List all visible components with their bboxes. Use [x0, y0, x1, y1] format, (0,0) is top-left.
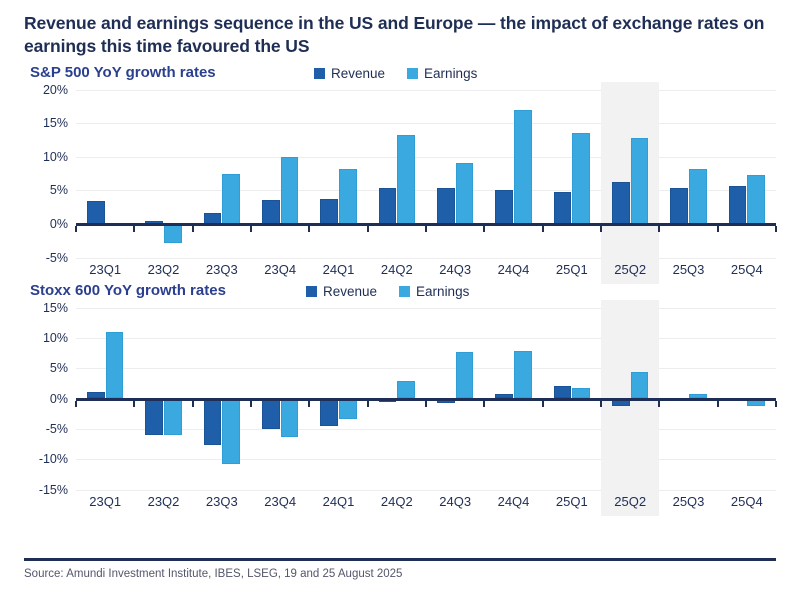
- bar-earnings-23Q4: [281, 399, 299, 438]
- axis-tick: [367, 226, 369, 232]
- axis-tick: [775, 401, 777, 407]
- x-tick-label-25Q2: 25Q2: [614, 262, 646, 277]
- gridline: [76, 90, 776, 91]
- legend-swatch-revenue-icon: [314, 68, 325, 79]
- bar-revenue-23Q2: [145, 399, 163, 435]
- y-tick-label: 10%: [43, 331, 68, 345]
- y-tick-label: 5%: [50, 183, 68, 197]
- legend-label-earnings: Earnings: [424, 66, 477, 81]
- x-tick-label-23Q3: 23Q3: [206, 262, 238, 277]
- axis-tick: [75, 401, 77, 407]
- axis-tick: [658, 226, 660, 232]
- chart2-y-axis: 15%10%5%0%-5%-10%-15%: [24, 308, 72, 490]
- chart2-x-axis: 23Q123Q223Q323Q424Q124Q224Q324Q425Q125Q2…: [76, 490, 776, 514]
- x-tick-label-25Q2: 25Q2: [614, 494, 646, 509]
- bar-earnings-24Q3: [456, 352, 474, 399]
- x-tick-label-24Q3: 24Q3: [439, 494, 471, 509]
- legend-label-earnings: Earnings: [416, 284, 469, 299]
- axis-tick: [483, 226, 485, 232]
- bar-earnings-23Q4: [281, 157, 299, 224]
- y-tick-label: 15%: [43, 301, 68, 315]
- bar-revenue-25Q4: [729, 186, 747, 224]
- axis-tick: [542, 226, 544, 232]
- legend-item-earnings: Earnings: [399, 284, 469, 299]
- axis-tick: [425, 401, 427, 407]
- x-tick-label-24Q3: 24Q3: [439, 262, 471, 277]
- y-tick-label: 0%: [50, 392, 68, 406]
- chart2-title: Stoxx 600 YoY growth rates: [30, 282, 226, 299]
- chart2-plot-area: 15%10%5%0%-5%-10%-15%: [24, 308, 782, 490]
- bar-revenue-25Q3: [670, 188, 688, 224]
- legend-swatch-revenue-icon: [306, 286, 317, 297]
- bar-earnings-23Q2: [164, 224, 182, 243]
- source-note: Source: Amundi Investment Institute, IBE…: [24, 568, 782, 580]
- gridline: [76, 308, 776, 309]
- axis-tick: [600, 401, 602, 407]
- bar-earnings-25Q2: [631, 138, 649, 224]
- bar-earnings-24Q1: [339, 399, 357, 420]
- legend-swatch-earnings-icon: [399, 286, 410, 297]
- y-tick-label: -10%: [39, 452, 68, 466]
- chart-panel-sp500: S&P 500 YoY growth rates Revenue Earning…: [24, 64, 782, 282]
- chart1-y-axis: 20%15%10%5%0%-5%: [24, 90, 72, 258]
- bar-earnings-23Q3: [222, 174, 240, 224]
- legend-item-earnings: Earnings: [407, 66, 477, 81]
- x-tick-label-23Q4: 23Q4: [264, 262, 296, 277]
- chart1-plot-area: 20%15%10%5%0%-5%: [24, 90, 782, 258]
- x-tick-label-23Q3: 23Q3: [206, 494, 238, 509]
- bar-earnings-25Q2: [631, 372, 649, 399]
- bar-earnings-24Q3: [456, 163, 474, 224]
- bar-revenue-25Q1: [554, 192, 572, 224]
- bar-earnings-24Q2: [397, 381, 415, 399]
- x-tick-label-23Q2: 23Q2: [148, 262, 180, 277]
- footer: Source: Amundi Investment Institute, IBE…: [18, 558, 782, 580]
- x-tick-label-24Q4: 24Q4: [498, 262, 530, 277]
- highlight-band-25Q2: [601, 300, 659, 516]
- chart2-legend: Revenue Earnings: [306, 284, 469, 299]
- axis-tick: [600, 226, 602, 232]
- gridline: [76, 368, 776, 369]
- legend-swatch-earnings-icon: [407, 68, 418, 79]
- axis-tick: [483, 401, 485, 407]
- bar-revenue-23Q3: [204, 399, 222, 445]
- x-tick-label-24Q2: 24Q2: [381, 262, 413, 277]
- x-tick-label-23Q1: 23Q1: [89, 262, 121, 277]
- legend-item-revenue: Revenue: [314, 66, 385, 81]
- x-tick-label-25Q3: 25Q3: [673, 262, 705, 277]
- x-tick-label-25Q3: 25Q3: [673, 494, 705, 509]
- x-tick-label-25Q1: 25Q1: [556, 262, 588, 277]
- x-tick-label-24Q4: 24Q4: [498, 494, 530, 509]
- bar-revenue-24Q4: [495, 190, 513, 224]
- bar-earnings-25Q4: [747, 175, 765, 224]
- axis-tick: [308, 401, 310, 407]
- x-tick-label-23Q2: 23Q2: [148, 494, 180, 509]
- chart2-header: Stoxx 600 YoY growth rates Revenue Earni…: [24, 282, 782, 308]
- gridline: [76, 123, 776, 124]
- y-tick-label: -5%: [46, 422, 68, 436]
- y-tick-label: -5%: [46, 251, 68, 265]
- bar-earnings-25Q1: [572, 133, 590, 224]
- legend-label-revenue: Revenue: [331, 66, 385, 81]
- bar-revenue-23Q1: [87, 201, 105, 224]
- chart1-bars: [76, 90, 776, 258]
- axis-tick: [250, 401, 252, 407]
- legend-item-revenue: Revenue: [306, 284, 377, 299]
- axis-tick: [250, 226, 252, 232]
- x-tick-label-24Q2: 24Q2: [381, 494, 413, 509]
- axis-tick: [717, 226, 719, 232]
- bar-earnings-24Q4: [514, 351, 532, 399]
- bar-earnings-23Q2: [164, 399, 182, 435]
- bar-earnings-25Q3: [689, 169, 707, 224]
- chart1-title: S&P 500 YoY growth rates: [30, 64, 216, 81]
- x-tick-label-23Q4: 23Q4: [264, 494, 296, 509]
- x-tick-label-25Q4: 25Q4: [731, 262, 763, 277]
- legend-label-revenue: Revenue: [323, 284, 377, 299]
- gridline: [76, 338, 776, 339]
- axis-tick: [717, 401, 719, 407]
- bar-revenue-23Q4: [262, 200, 280, 224]
- bar-earnings-24Q2: [397, 135, 415, 224]
- bar-revenue-25Q2: [612, 182, 630, 224]
- y-tick-label: 20%: [43, 83, 68, 97]
- axis-tick: [775, 226, 777, 232]
- axis-tick: [542, 401, 544, 407]
- gridline: [76, 157, 776, 158]
- chart-page: Revenue and earnings sequence in the US …: [0, 0, 800, 590]
- footer-divider: [24, 558, 776, 561]
- axis-tick: [192, 401, 194, 407]
- bar-revenue-24Q1: [320, 399, 338, 427]
- y-tick-label: 5%: [50, 361, 68, 375]
- bar-revenue-24Q3: [437, 188, 455, 224]
- bar-earnings-23Q1: [106, 332, 124, 399]
- bar-revenue-24Q1: [320, 199, 338, 224]
- axis-tick: [133, 226, 135, 232]
- y-tick-label: 10%: [43, 150, 68, 164]
- chart1-legend: Revenue Earnings: [314, 66, 477, 81]
- x-tick-label-23Q1: 23Q1: [89, 494, 121, 509]
- y-tick-label: 15%: [43, 116, 68, 130]
- chart1-x-axis: 23Q123Q223Q323Q424Q124Q224Q324Q425Q125Q2…: [76, 258, 776, 282]
- chart-panel-stoxx600: Stoxx 600 YoY growth rates Revenue Earni…: [24, 282, 782, 514]
- page-title: Revenue and earnings sequence in the US …: [24, 0, 782, 58]
- x-tick-label-25Q1: 25Q1: [556, 494, 588, 509]
- x-tick-label-24Q1: 24Q1: [323, 262, 355, 277]
- bar-revenue-24Q2: [379, 188, 397, 224]
- x-tick-label-24Q1: 24Q1: [323, 494, 355, 509]
- bar-earnings-23Q3: [222, 399, 240, 465]
- bar-revenue-23Q4: [262, 399, 280, 429]
- axis-tick: [425, 226, 427, 232]
- chart1-header: S&P 500 YoY growth rates Revenue Earning…: [24, 64, 782, 90]
- bar-earnings-24Q1: [339, 169, 357, 224]
- axis-tick: [308, 226, 310, 232]
- axis-tick: [192, 226, 194, 232]
- y-tick-label: -15%: [39, 483, 68, 497]
- x-tick-label-25Q4: 25Q4: [731, 494, 763, 509]
- y-tick-label: 0%: [50, 217, 68, 231]
- chart2-bars: [76, 308, 776, 490]
- axis-tick: [367, 401, 369, 407]
- axis-tick: [658, 401, 660, 407]
- axis-tick: [133, 401, 135, 407]
- gridline: [76, 459, 776, 460]
- bar-earnings-24Q4: [514, 110, 532, 224]
- axis-tick: [75, 226, 77, 232]
